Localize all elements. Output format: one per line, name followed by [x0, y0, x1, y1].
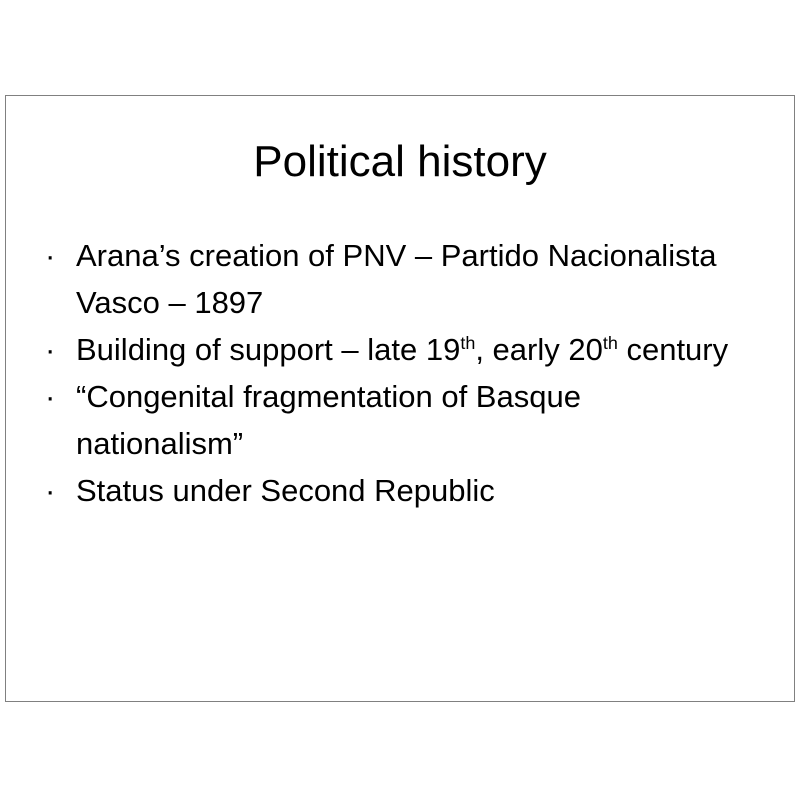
list-item-text-part: Building of support – late 19: [76, 332, 460, 367]
bullet-dot-icon: ·: [45, 232, 65, 279]
slide-canvas: Political history · Arana’s creation of …: [0, 0, 800, 800]
page-title: Political history: [6, 136, 794, 188]
list-item: · Building of support – late 19th, early…: [39, 326, 739, 373]
ordinal-superscript: th: [460, 333, 475, 353]
list-item-text-part: century: [618, 332, 728, 367]
bullet-dot-icon: ·: [45, 467, 65, 514]
list-item-label: Building of support – late 19th, early 2…: [76, 326, 739, 373]
list-item-text-part: , early 20: [475, 332, 603, 367]
bullet-dot-icon: ·: [45, 373, 65, 420]
list-item: · “Congenital fragmentation of Basque na…: [39, 373, 739, 467]
list-item-label: Status under Second Republic: [76, 467, 739, 514]
ordinal-superscript: th: [603, 333, 618, 353]
list-item: · Status under Second Republic: [39, 467, 739, 514]
list-item-label: “Congenital fragmentation of Basque nati…: [76, 373, 739, 467]
slide-frame: Political history · Arana’s creation of …: [5, 95, 795, 702]
bullet-list: · Arana’s creation of PNV – Partido Naci…: [39, 232, 739, 514]
bullet-dot-icon: ·: [45, 326, 65, 373]
list-item: · Arana’s creation of PNV – Partido Naci…: [39, 232, 739, 326]
list-item-label: Arana’s creation of PNV – Partido Nacion…: [76, 232, 739, 326]
